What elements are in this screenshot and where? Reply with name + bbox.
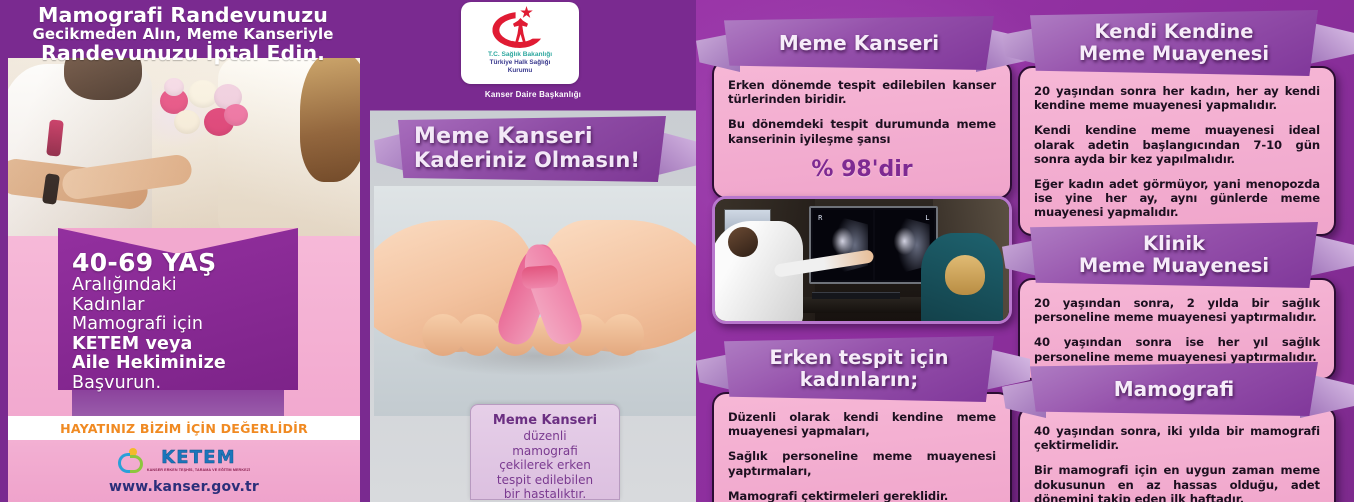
early-detection-block: Erken tespit için kadınların; Düzenli ol… (712, 336, 1012, 502)
ribbon-line-1: Aralığındaki (72, 276, 284, 296)
left-footer: KETEM KANSER ERKEN TEŞHİS, TARAMA VE EĞİ… (8, 440, 360, 502)
ribbon-line-5: Aile Hekiminize (72, 354, 284, 374)
left-headline: Mamografi Randevunuzu Gecikmeden Alın, M… (0, 0, 366, 58)
ministry-emblem-icon (492, 6, 548, 50)
early-detection-header: Erken tespit için kadınların; (712, 336, 1012, 402)
early-detection-p1: Düzenli olarak kendi kendine meme muayen… (728, 410, 996, 438)
website-url[interactable]: www.kanser.gov.tr (109, 479, 259, 495)
middle-card-line-4: tespit edilebilen (481, 473, 609, 488)
clinical-exam-title: Klinik Meme Muayenesi (1073, 233, 1275, 277)
middle-panel: T.C. Sağlık Bakanlığı Türkiye Halk Sağlı… (366, 0, 696, 502)
breast-cancer-header: Meme Kanseri (712, 16, 1012, 70)
middle-card-line-3: çekilerek erken (481, 458, 609, 473)
clinical-exam-header: Klinik Meme Muayenesi (1018, 222, 1336, 288)
mammogram-label-left: R (818, 214, 822, 222)
breast-cancer-awareness-poster: Mamografi Randevunuzu Gecikmeden Alın, M… (0, 0, 1354, 502)
headline-line-3: Randevunuzu İptal Edin. (0, 42, 366, 64)
self-exam-block: Kendi Kendine Meme Muayenesi 20 yaşından… (1018, 10, 1336, 236)
ribbon-line-4: KETEM veya (72, 335, 284, 355)
middle-banner: Meme Kanseri Kaderiniz Olmasın! (388, 116, 680, 188)
clinical-exam-p2: 40 yaşından sonra ise her yıl sağlık per… (1034, 335, 1320, 363)
ministry-line-2: Türkiye Halk Sağlığı (490, 59, 551, 67)
self-exam-title-line-1: Kendi Kendine (1079, 21, 1269, 43)
self-exam-header: Kendi Kendine Meme Muayenesi (1018, 10, 1336, 76)
hands-ribbon-photo (374, 186, 696, 416)
patient-head (945, 255, 985, 295)
banner-line-1: Meme Kanseri (414, 125, 664, 149)
mammography-block: Mamografi 40 yaşından sonra, iki yılda b… (1018, 362, 1336, 502)
middle-card-line-1: düzenli (481, 429, 609, 444)
ketem-figure-icon (118, 448, 144, 474)
keyboard (812, 292, 900, 299)
self-exam-p1: 20 yaşından sonra her kadın, her ay kend… (1034, 84, 1320, 112)
mammography-p1: 40 yaşından sonra, iki yılda bir mamogra… (1034, 424, 1320, 452)
ribbon-line-3: Mamografi için (72, 315, 284, 335)
mammography-title: Mamografi (1108, 379, 1240, 400)
breast-cancer-block: Meme Kanseri Erken dönemde tespit edileb… (712, 16, 1012, 199)
self-exam-title-line-2: Meme Muayenesi (1079, 43, 1269, 65)
breast-cancer-p2: Bu dönemdeki tespit durumunda meme kanse… (728, 117, 996, 145)
clinical-exam-title-line-2: Meme Muayenesi (1079, 255, 1269, 277)
survival-percentage: % 98'dir (728, 157, 996, 183)
mammography-p2: Bir mamografi için en uygun zaman meme d… (1034, 463, 1320, 502)
ketem-logo: KETEM KANSER ERKEN TEŞHİS, TARAMA VE EĞİ… (118, 448, 250, 474)
self-exam-card: 20 yaşından sonra her kadın, her ay kend… (1018, 66, 1336, 236)
middle-card-line-5: bir hastalıktır. (481, 487, 609, 502)
ketem-subtitle: KANSER ERKEN TEŞHİS, TARAMA VE EĞİTİM ME… (147, 467, 250, 473)
ribbon-line-2: Kadınlar (72, 296, 284, 316)
early-detection-title-line-2: kadınların; (770, 369, 949, 391)
couple-photo (8, 58, 360, 236)
slogan-strip: HAYATINIZ BİZİM İÇİN DEĞERLİDİR (8, 416, 360, 440)
mammography-header: Mamografi (1018, 362, 1336, 416)
early-detection-card: Düzenli olarak kendi kendine meme muayen… (712, 392, 1012, 502)
pink-ribbon-icon (492, 242, 588, 358)
ministry-line-3: Kurumu (508, 67, 533, 75)
ministry-of-health-logo: T.C. Sağlık Bakanlığı Türkiye Halk Sağlı… (461, 2, 579, 84)
early-detection-title: Erken tespit için kadınların; (764, 347, 955, 391)
clinical-exam-p1: 20 yaşından sonra, 2 yılda bir sağlık pe… (1034, 296, 1320, 324)
middle-card-title: Meme Kanseri (481, 413, 609, 429)
ministry-caption: Kanser Daire Başkanlığı (370, 90, 696, 99)
middle-info-card: Meme Kanseri düzenli mamografi çekilerek… (470, 404, 620, 500)
clinical-exam-block: Klinik Meme Muayenesi 20 yaşından sonra,… (1018, 222, 1336, 380)
headline-line-1: Mamografi Randevunuzu (0, 0, 366, 26)
doctor-head (728, 227, 758, 257)
headline-line-2: Gecikmeden Alın, Meme Kanseriyle (0, 26, 366, 42)
banner-text: Meme Kanseri Kaderiniz Olmasın! (414, 125, 664, 172)
ribbon-line-6: Başvurun. (72, 374, 284, 394)
age-range-label: 40-69 YAŞ (72, 250, 284, 276)
right-section: Meme Kanseri Erken dönemde tespit edileb… (696, 0, 1354, 502)
middle-inner: T.C. Sağlık Bakanlığı Türkiye Halk Sağlı… (370, 0, 696, 502)
doctor-patient-photo: R L (712, 196, 1012, 324)
header-body: Mamografi (1030, 362, 1318, 416)
banner-line-2: Kaderiniz Olmasın! (414, 149, 664, 172)
patient-figure (921, 233, 1003, 324)
breast-cancer-card: Erken dönemde tespit edilebilen kanser t… (712, 60, 1012, 199)
middle-card-line-2: mamografi (481, 444, 609, 459)
mammogram-photo-block: R L (712, 196, 1012, 324)
mammogram-label-right: L (925, 214, 929, 222)
mammography-card: 40 yaşından sonra, iki yılda bir mamogra… (1018, 406, 1336, 502)
header-body: Meme Kanseri (724, 16, 994, 70)
breast-cancer-title: Meme Kanseri (773, 33, 945, 54)
early-detection-p3: Mamografi çektirmeleri gereklidir. (728, 489, 996, 502)
mammogram-monitor: R L (809, 206, 938, 284)
right-column-a: Meme Kanseri Erken dönemde tespit edileb… (712, 0, 1012, 502)
left-panel: Mamografi Randevunuzu Gecikmeden Alın, M… (0, 0, 366, 502)
ministry-line-1: T.C. Sağlık Bakanlığı (488, 51, 552, 59)
ketem-wordmark: KETEM (161, 449, 236, 467)
right-column-b: Kendi Kendine Meme Muayenesi 20 yaşından… (1018, 0, 1336, 502)
early-detection-title-line-1: Erken tespit için (770, 347, 949, 369)
self-exam-p2: Kendi kendine meme muayenesi ideal olara… (1034, 123, 1320, 166)
header-body: Kendi Kendine Meme Muayenesi (1030, 10, 1318, 76)
header-body: Klinik Meme Muayenesi (1030, 222, 1318, 288)
self-exam-p3: Eğer kadın adet görmüyor, yani menopozda… (1034, 177, 1320, 220)
self-exam-title: Kendi Kendine Meme Muayenesi (1073, 21, 1275, 65)
photo-overlay (8, 58, 360, 236)
breast-cancer-p1: Erken dönemde tespit edilebilen kanser t… (728, 78, 996, 106)
early-detection-p2: Sağlık personeline meme muayenesi yaptır… (728, 449, 996, 477)
ribbon-text: 40-69 YAŞ Aralığındaki Kadınlar Mamograf… (72, 250, 284, 393)
clinical-exam-title-line-1: Klinik (1079, 233, 1269, 255)
slogan-text: HAYATINIZ BİZİM İÇİN DEĞERLİDİR (60, 421, 308, 436)
header-body: Erken tespit için kadınların; (724, 336, 994, 402)
